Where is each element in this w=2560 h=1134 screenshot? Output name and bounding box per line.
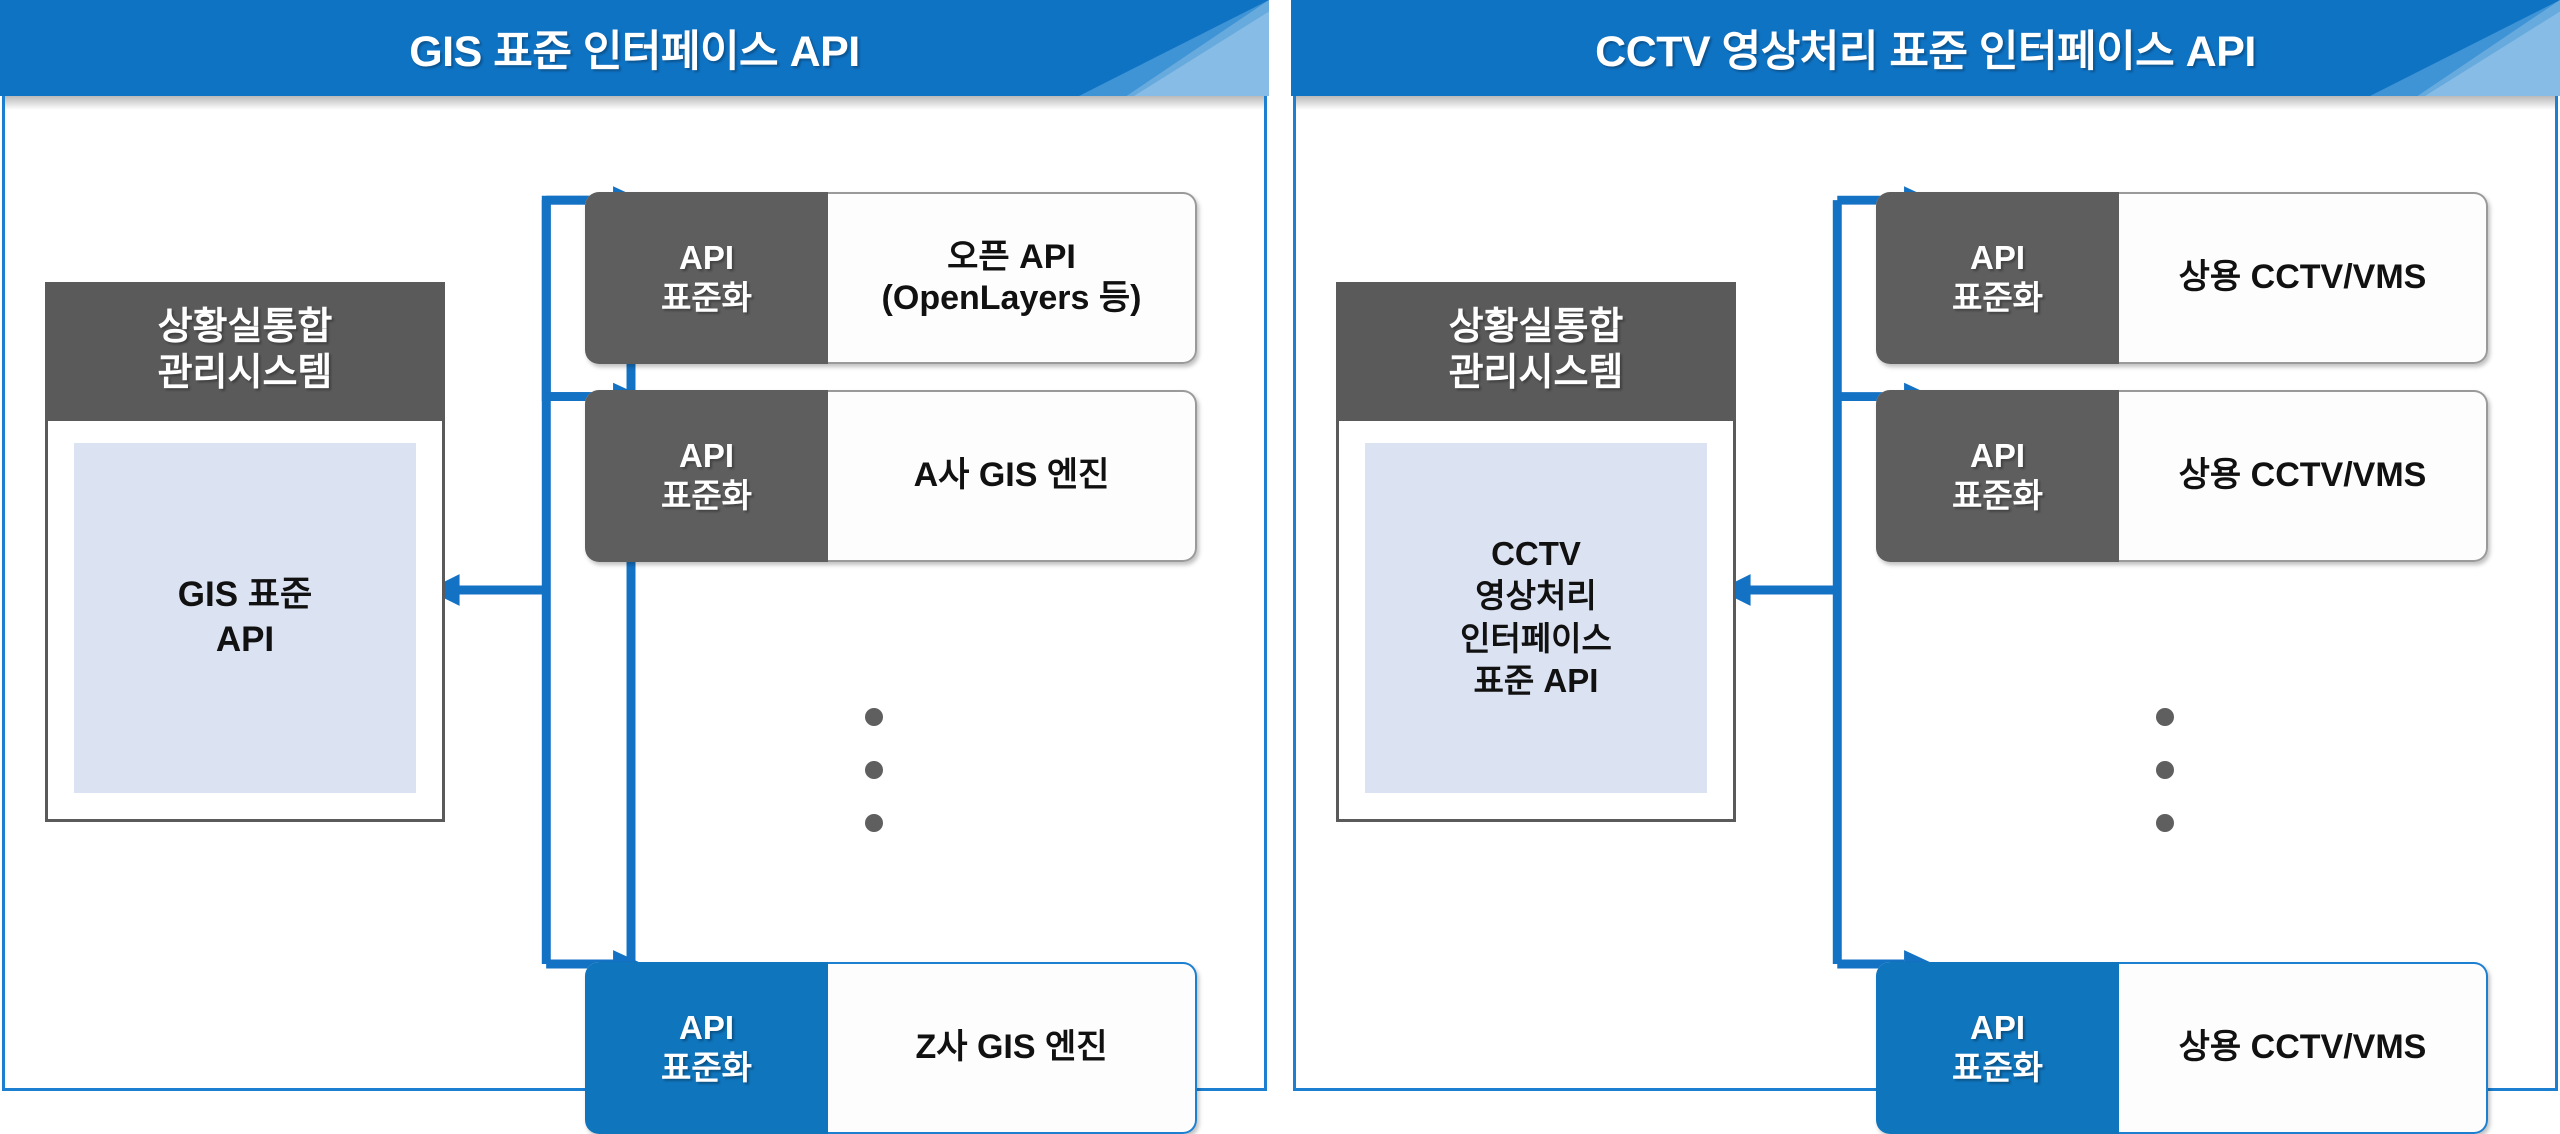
- api-target-name: 상용 CCTV/VMS: [2119, 390, 2488, 562]
- api-row-cctv-vms-1[interactable]: API 표준화 상용 CCTV/VMS: [1876, 192, 2488, 364]
- ellipsis-dot-2-icon: [2156, 761, 2174, 779]
- api-tab-line-1: API: [679, 436, 734, 476]
- system-box-gis: 상황실통합 관리시스템 GIS 표준 API: [45, 282, 445, 822]
- api-row-a-gis-engine[interactable]: API 표준화 A사 GIS 엔진: [585, 390, 1197, 562]
- api-tab-line-2: 표준화: [1952, 278, 2043, 318]
- api-target-line-1: Z사 GIS 엔진: [915, 1027, 1107, 1068]
- cctv-api-line-2: 영상처리: [1460, 575, 1612, 617]
- api-target-line-1: 상용 CCTV/VMS: [2179, 455, 2427, 496]
- api-tab-line-2: 표준화: [661, 476, 752, 516]
- api-tab-line-1: API: [1970, 238, 2025, 278]
- api-tab-line-1: API: [679, 1008, 734, 1048]
- api-tab-line-2: 표준화: [1952, 1048, 2043, 1088]
- api-standardization-tab: API 표준화: [1876, 192, 2119, 364]
- panel-gis-body: 상황실통합 관리시스템 GIS 표준 API API 표준화: [2, 96, 1267, 1091]
- api-standardization-tab: API 표준화: [1876, 962, 2119, 1134]
- ellipsis-dots-gis: [865, 708, 883, 832]
- api-target-name: Z사 GIS 엔진: [828, 962, 1197, 1134]
- api-target-name: 오픈 API (OpenLayers 등): [828, 192, 1197, 364]
- panel-cctv-title: CCTV 영상처리 표준 인터페이스 API: [1595, 17, 2256, 79]
- cctv-api-line-4: 표준 API: [1460, 660, 1612, 702]
- api-tab-line-1: API: [1970, 1008, 2025, 1048]
- api-row-cctv-vms-3[interactable]: API 표준화 상용 CCTV/VMS: [1876, 962, 2488, 1134]
- panel-cctv: CCTV 영상처리 표준 인터페이스 API 상황실통합: [1291, 0, 2560, 1099]
- api-standardization-tab: API 표준화: [585, 192, 828, 364]
- api-target-line-1: 상용 CCTV/VMS: [2179, 1027, 2427, 1068]
- panel-cctv-header: CCTV 영상처리 표준 인터페이스 API: [1291, 0, 2560, 96]
- api-target-name: 상용 CCTV/VMS: [2119, 962, 2488, 1134]
- api-target-line-1: 오픈 API: [947, 237, 1076, 278]
- ellipsis-dot-2-icon: [865, 761, 883, 779]
- panel-cctv-body: 상황실통합 관리시스템 CCTV 영상처리 인터페이스 표준 API: [1293, 96, 2558, 1091]
- system-header-line-2: 관리시스템: [45, 350, 445, 396]
- system-box-gis-frame: GIS 표준 API: [45, 421, 445, 822]
- system-header-line-1: 상황실통합: [45, 304, 445, 350]
- system-header-line-1: 상황실통합: [1336, 304, 1736, 350]
- api-row-cctv-vms-2[interactable]: API 표준화 상용 CCTV/VMS: [1876, 390, 2488, 562]
- ellipsis-dot-3-icon: [2156, 814, 2174, 832]
- api-target-line-2: (OpenLayers 등): [882, 278, 1142, 319]
- api-tab-line-1: API: [679, 238, 734, 278]
- cctv-standard-api-panel: CCTV 영상처리 인터페이스 표준 API: [1365, 443, 1707, 793]
- system-box-cctv-header: 상황실통합 관리시스템: [1336, 282, 1736, 421]
- panel-gis-title: GIS 표준 인터페이스 API: [409, 17, 860, 79]
- cctv-api-line-3: 인터페이스: [1460, 618, 1612, 660]
- diagram-stage: GIS 표준 인터페이스 API: [0, 0, 2560, 1099]
- system-header-line-2: 관리시스템: [1336, 350, 1736, 396]
- api-target-name: A사 GIS 엔진: [828, 390, 1197, 562]
- ellipsis-dot-1-icon: [2156, 708, 2174, 726]
- api-target-line-1: A사 GIS 엔진: [914, 455, 1110, 496]
- cctv-api-line-1: CCTV: [1460, 533, 1612, 575]
- api-tab-line-1: API: [1970, 436, 2025, 476]
- ellipsis-dots-cctv: [2156, 708, 2174, 832]
- api-row-open-api[interactable]: API 표준화 오픈 API (OpenLayers 등): [585, 192, 1197, 364]
- api-row-z-gis-engine[interactable]: API 표준화 Z사 GIS 엔진: [585, 962, 1197, 1134]
- gis-api-line-1: GIS 표준: [178, 573, 312, 618]
- gis-standard-api-panel: GIS 표준 API: [74, 443, 416, 793]
- gis-api-line-2: API: [178, 618, 312, 663]
- system-box-cctv: 상황실통합 관리시스템 CCTV 영상처리 인터페이스 표준 API: [1336, 282, 1736, 822]
- panel-gis: GIS 표준 인터페이스 API: [0, 0, 1269, 1099]
- system-box-cctv-frame: CCTV 영상처리 인터페이스 표준 API: [1336, 421, 1736, 822]
- system-box-gis-header: 상황실통합 관리시스템: [45, 282, 445, 421]
- api-standardization-tab: API 표준화: [585, 390, 828, 562]
- api-target-line-1: 상용 CCTV/VMS: [2179, 257, 2427, 298]
- api-target-name: 상용 CCTV/VMS: [2119, 192, 2488, 364]
- api-tab-line-2: 표준화: [1952, 476, 2043, 516]
- ellipsis-dot-1-icon: [865, 708, 883, 726]
- api-standardization-tab: API 표준화: [585, 962, 828, 1134]
- ellipsis-dot-3-icon: [865, 814, 883, 832]
- panel-gis-header: GIS 표준 인터페이스 API: [0, 0, 1269, 96]
- api-tab-line-2: 표준화: [661, 278, 752, 318]
- api-standardization-tab: API 표준화: [1876, 390, 2119, 562]
- api-tab-line-2: 표준화: [661, 1048, 752, 1088]
